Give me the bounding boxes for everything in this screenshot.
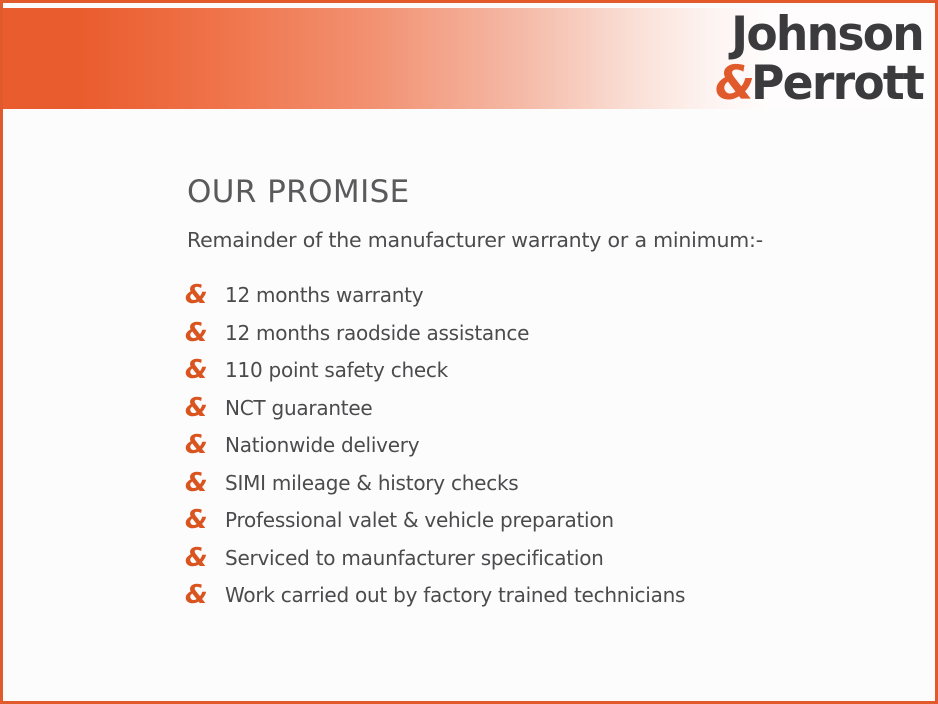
ampersand-bullet-icon: & [185,395,225,421]
list-item-label: Serviced to maunfacturer specification [225,546,604,570]
logo-ampersand-icon: & [715,56,752,111]
list-item: & Work carried out by factory trained te… [185,576,885,614]
list-item-label: Work carried out by factory trained tech… [225,583,685,607]
list-item: & 110 point safety check [185,351,885,389]
list-item-label: NCT guarantee [225,396,372,420]
brand-logo: Johnson &Perrott [691,7,923,111]
list-item-label: Nationwide delivery [225,433,419,457]
ampersand-bullet-icon: & [185,432,225,458]
list-item: & 12 months warranty [185,276,885,314]
page-title: OUR PROMISE [187,173,885,212]
ampersand-bullet-icon: & [185,282,225,308]
promise-list: & 12 months warranty & 12 months raodsid… [185,276,885,614]
list-item: & Professional valet & vehicle preparati… [185,501,885,539]
ampersand-bullet-icon: & [185,357,225,383]
content-area: OUR PROMISE Remainder of the manufacture… [185,173,885,614]
ampersand-bullet-icon: & [185,507,225,533]
list-item: & 12 months raodside assistance [185,314,885,352]
logo-text-perrott-line: &Perrott [698,60,923,107]
ampersand-bullet-icon: & [185,582,225,608]
list-item-label: 12 months warranty [225,283,423,307]
list-item: & NCT guarantee [185,389,885,427]
logo-text-perrott: Perrott [751,56,923,111]
list-item-label: Professional valet & vehicle preparation [225,508,614,532]
ampersand-bullet-icon: & [185,470,225,496]
logo-text-johnson: Johnson [698,11,923,58]
list-item: & Serviced to maunfacturer specification [185,539,885,577]
list-item-label: 110 point safety check [225,358,448,382]
ampersand-bullet-icon: & [185,545,225,571]
list-item: & SIMI mileage & history checks [185,464,885,502]
ampersand-bullet-icon: & [185,320,225,346]
page-subtitle: Remainder of the manufacturer warranty o… [187,228,885,253]
list-item: & Nationwide delivery [185,426,885,464]
list-item-label: SIMI mileage & history checks [225,471,518,495]
list-item-label: 12 months raodside assistance [225,321,529,345]
promise-slide: Johnson &Perrott OUR PROMISE Remainder o… [0,0,938,704]
